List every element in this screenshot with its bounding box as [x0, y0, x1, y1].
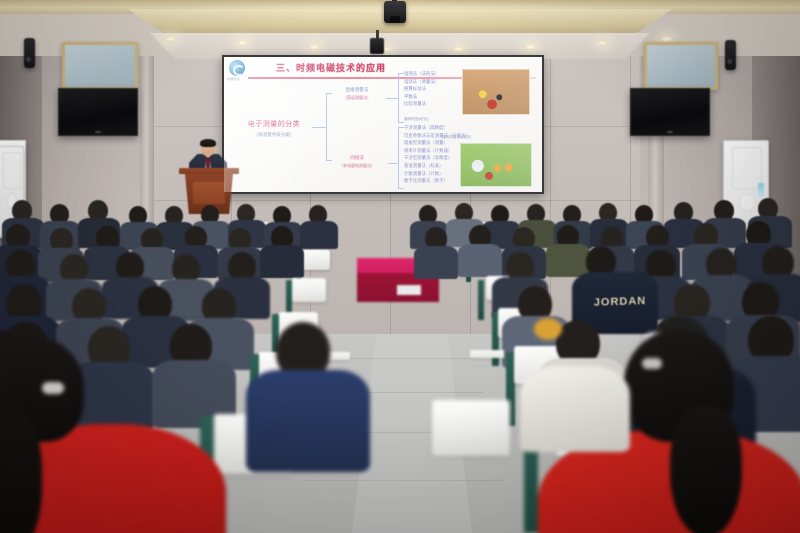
slide-root-node: 电子测量的分类 （按测量手段分类） — [236, 119, 312, 138]
hair-tie — [42, 382, 64, 394]
slide-branch-2-line2: （非电量电测量法） — [326, 163, 388, 169]
left-wall-monitor — [58, 88, 138, 136]
downlight — [164, 36, 177, 42]
ac-display-panel — [758, 183, 764, 197]
slide-photo-bottom-caption: 潜荧机具性能检测 — [442, 135, 471, 140]
slide-branch-1-leaves: 电测法（法的法） 电测法（测量法） 换算标准法 平衡法 比较测量法 — [404, 70, 439, 108]
ponytail — [670, 406, 742, 533]
podium-top — [179, 168, 239, 174]
slide-title: 三、时频电磁技术的应用 — [276, 61, 386, 74]
stage-vent-grille — [397, 285, 421, 295]
slide-branch-1-line2: （直读测量法） — [328, 95, 386, 101]
conference-hall-photo: 中器农机 三、时频电磁技术的应用 电子测量的分类 （按测量手段分类） 直接测量法… — [0, 0, 800, 533]
slide-root-line2: （按测量手段分类） — [236, 132, 312, 138]
secondary-projector-icon — [370, 38, 384, 54]
downlight — [596, 40, 609, 46]
slide-leaf: 电测法（法的法） — [404, 70, 439, 78]
slide-leaf: 电测法（测量法） — [404, 78, 439, 86]
downlight — [524, 44, 537, 50]
downlight — [308, 44, 321, 50]
jordan-jacket-text: JORDAN — [588, 295, 652, 309]
projection-screen: 中器农机 三、时频电磁技术的应用 电子测量的分类 （按测量手段分类） 直接测量法… — [222, 55, 544, 194]
podium-front-panel — [193, 182, 225, 204]
downlight — [452, 46, 465, 52]
slide-branch-1-label: 直接测量法 （直读测量法） — [328, 87, 386, 101]
left-window — [62, 42, 138, 90]
left-wall-loudspeaker — [24, 38, 35, 68]
slide-leaf: 比较测量法 — [404, 100, 439, 108]
downlight — [236, 40, 249, 46]
hair-clip — [642, 358, 662, 369]
slide-leaf: 换算标准法 — [404, 85, 439, 93]
slide-photo-top-caption: 播种机田间作业 — [404, 117, 429, 122]
slide-photo-farm-equipment — [460, 143, 532, 187]
orange-hair-accessory — [534, 318, 562, 340]
slide-branch-1-line1: 直接测量法 — [328, 87, 386, 93]
slide-leaf: 平衡法 — [404, 93, 439, 101]
slide-logo-text: 中器农机 — [227, 77, 240, 81]
right-wall-monitor — [630, 88, 710, 136]
presenter-hair — [200, 139, 216, 147]
slide-branch-2-line1: 间接法 — [326, 155, 388, 161]
ceiling-projector-icon — [384, 1, 406, 23]
right-window — [644, 42, 718, 90]
presentation-slide: 中器农机 三、时频电磁技术的应用 电子测量的分类 （按测量手段分类） 直接测量法… — [224, 57, 542, 192]
slide-root-line1: 电子测量的分类 — [236, 119, 312, 129]
slide-leaf: 干涉测量法（高精度） — [404, 124, 470, 132]
right-wall-loudspeaker — [725, 40, 736, 70]
slide-logo-icon — [229, 60, 245, 76]
slide-branch-2-label: 间接法 （非电量电测量法） — [326, 155, 388, 169]
slide-photo-seeding-machine — [462, 69, 530, 115]
